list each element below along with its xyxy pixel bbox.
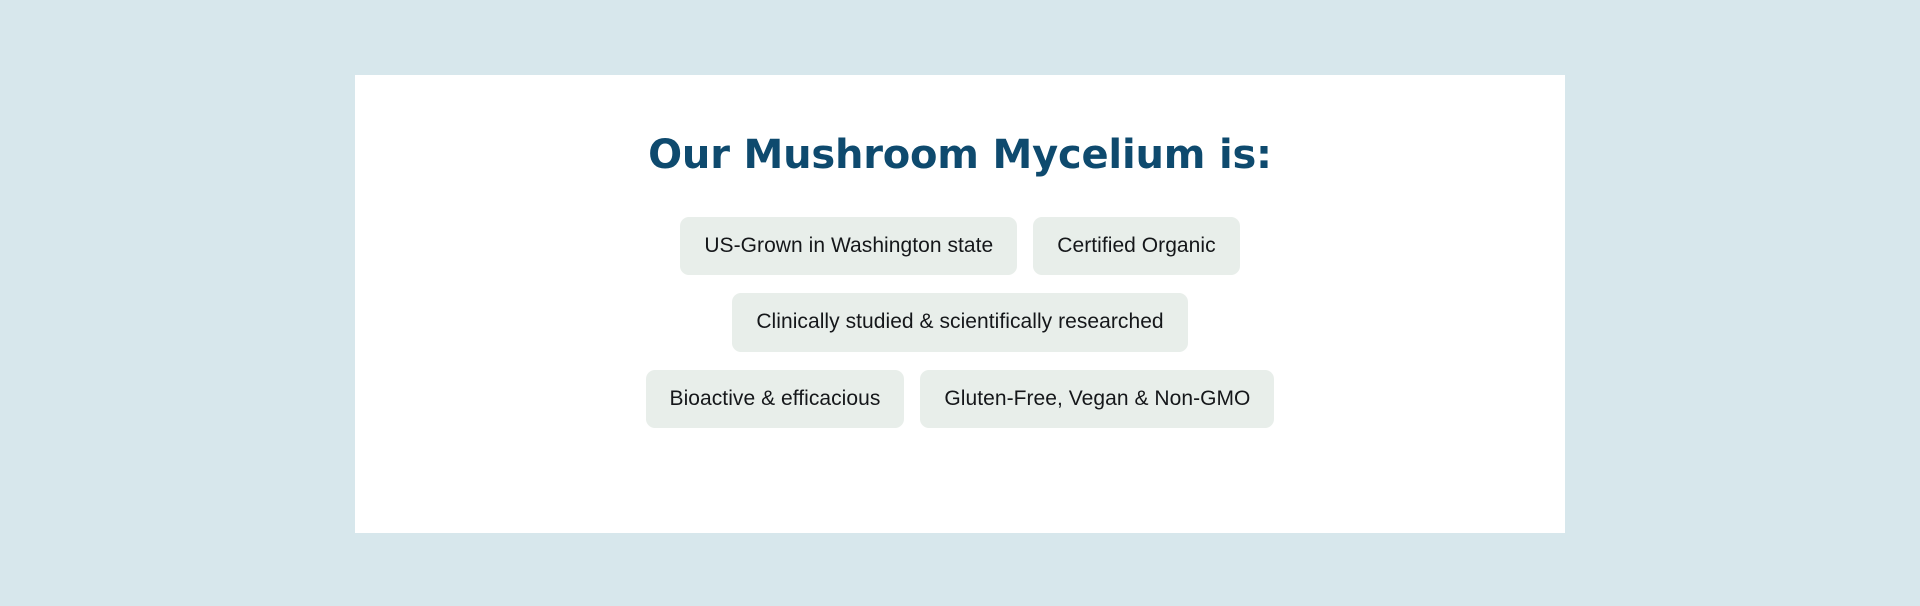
badge-clinically-studied: Clinically studied & scientifically rese… — [732, 293, 1187, 351]
badge-list: US-Grown in Washington state Certified O… — [355, 217, 1565, 428]
badge-certified-organic: Certified Organic — [1033, 217, 1239, 275]
badge-us-grown: US-Grown in Washington state — [680, 217, 1017, 275]
page-background: Our Mushroom Mycelium is: US-Grown in Wa… — [0, 0, 1920, 606]
badge-row: US-Grown in Washington state Certified O… — [355, 217, 1565, 275]
badge-row: Clinically studied & scientifically rese… — [355, 293, 1565, 351]
badge-bioactive: Bioactive & efficacious — [646, 370, 905, 428]
mycelium-claims-card: Our Mushroom Mycelium is: US-Grown in Wa… — [355, 75, 1565, 533]
badge-row: Bioactive & efficacious Gluten-Free, Veg… — [355, 370, 1565, 428]
badge-gluten-free-vegan-non-gmo: Gluten-Free, Vegan & Non-GMO — [920, 370, 1274, 428]
page-title: Our Mushroom Mycelium is: — [648, 131, 1272, 179]
